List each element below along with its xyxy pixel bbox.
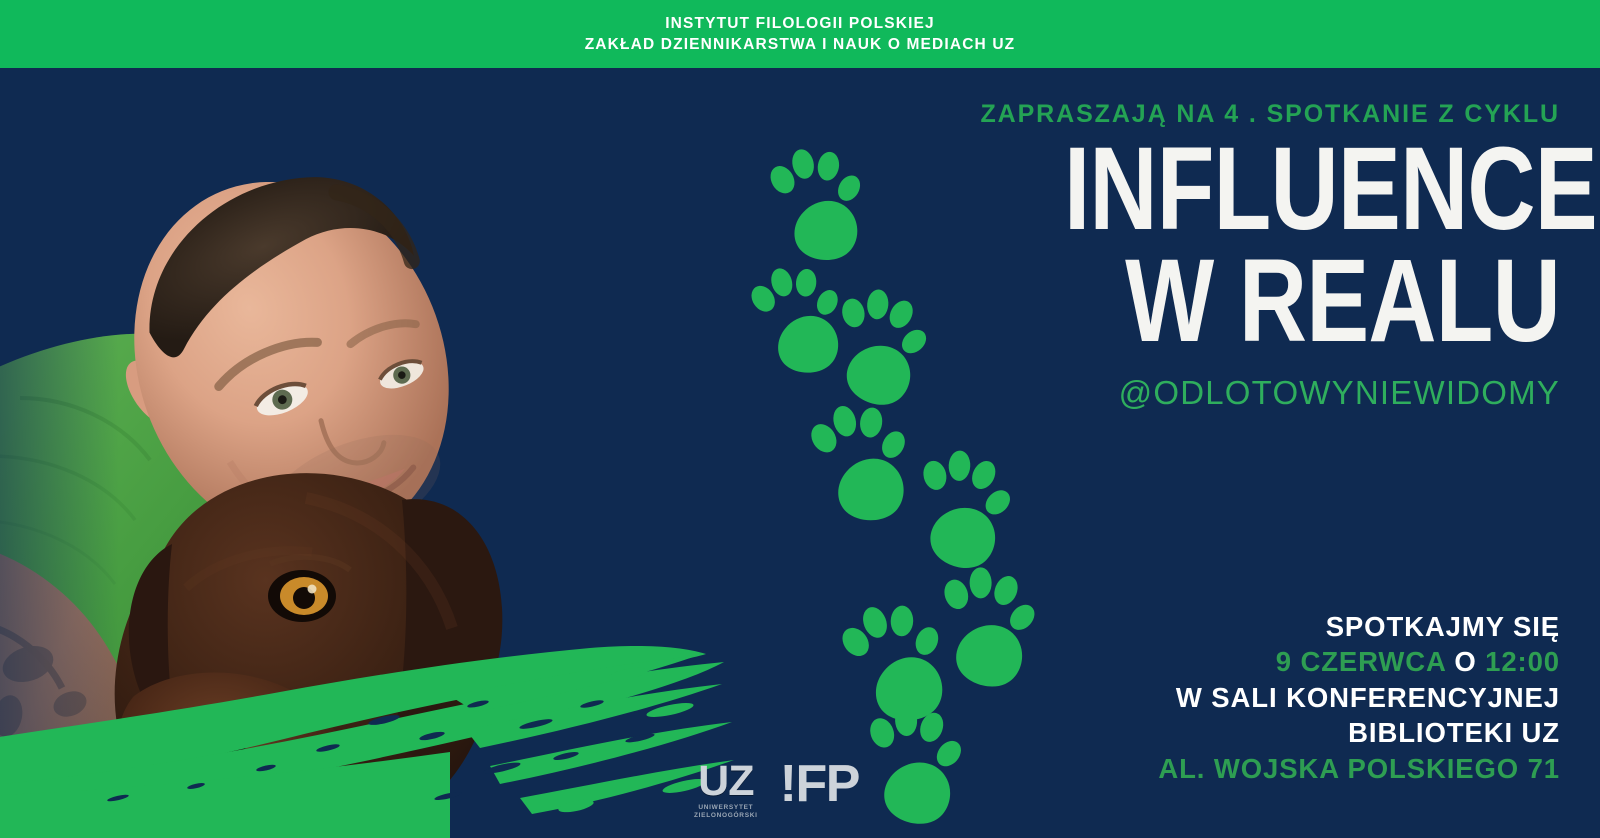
- details-line-2: 9 CZERWCA O 12:00: [940, 644, 1560, 679]
- details-line-5-address: AL. WOJSKA POLSKIEGO 71: [940, 751, 1560, 786]
- uz-logo-mark: UZ: [698, 762, 753, 802]
- uz-subtitle-line-2: ZIELONOGÓRSKI: [694, 812, 758, 820]
- uz-subtitle-line-1: UNIWERSYTET: [694, 804, 758, 812]
- institute-line-2: ZAKŁAD DZIENNIKARSTWA I NAUK O MEDIACH U…: [585, 34, 1016, 55]
- man-hugging-dog-photo: [0, 68, 540, 838]
- event-details-block: SPOTKAJMY SIĘ 9 CZERWCA O 12:00 W SALI K…: [940, 609, 1560, 786]
- details-line-4: BIBLIOTEKI UZ: [940, 715, 1560, 750]
- details-line-3: W SALI KONFERENCYJNEJ: [940, 680, 1560, 715]
- date-time-connector: O: [1454, 646, 1476, 677]
- event-date: 9 CZERWCA: [1276, 646, 1446, 677]
- institute-line-1: INSTYTUT FILOLOGII POLSKIEJ: [665, 13, 935, 34]
- title-line-1: INFLUENCER: [1064, 135, 1560, 245]
- details-line-1: SPOTKAJMY SIĘ: [940, 609, 1560, 644]
- uz-logo: UZ UNIWERSYTET ZIELONOGÓRSKI: [694, 762, 758, 820]
- title-line-2: W REALU: [1064, 247, 1560, 357]
- event-time: 12:00: [1485, 646, 1560, 677]
- instagram-handle: @ODLOTOWYNIEWIDOMY: [940, 374, 1560, 412]
- headline-block: ZAPRASZAJĄ NA 4 . SPOTKANIE Z CYKLU INFL…: [940, 100, 1560, 412]
- ifp-logo: !FP: [780, 758, 859, 820]
- logo-row: UZ UNIWERSYTET ZIELONOGÓRSKI !FP: [694, 758, 859, 820]
- event-poster: INSTYTUT FILOLOGII POLSKIEJ ZAKŁAD DZIEN…: [0, 0, 1600, 838]
- uz-logo-subtitle: UNIWERSYTET ZIELONOGÓRSKI: [694, 804, 758, 820]
- institute-header-bar: INSTYTUT FILOLOGII POLSKIEJ ZAKŁAD DZIEN…: [0, 0, 1600, 68]
